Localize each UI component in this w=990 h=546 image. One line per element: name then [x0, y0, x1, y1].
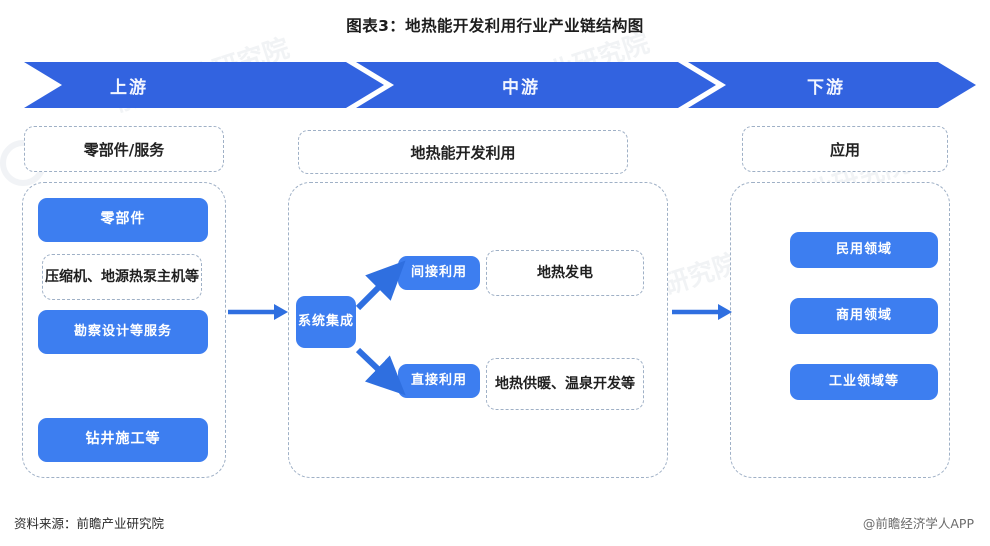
banner-label-downstream: 下游 [807, 73, 845, 98]
page-title: 图表3：地热能开发利用行业产业链结构图 [0, 14, 990, 36]
downstream-item-residential: 民用领域 [790, 232, 938, 268]
app-credit: @前瞻经济学人APP [863, 513, 974, 532]
banner-segment-upstream: 上游 [24, 62, 384, 108]
value-chain-banner: 上游 中游 下游 [24, 62, 976, 108]
branch-arrows [288, 240, 418, 420]
banner-segment-downstream: 下游 [688, 62, 976, 108]
connector-arrow-upstream-to-midstream [228, 300, 290, 324]
upstream-item-compressor-heatpump: 压缩机、地源热泵主机等 [42, 254, 202, 300]
source-note: 资料来源：前瞻产业研究院 [14, 513, 164, 532]
banner-label-upstream: 上游 [110, 73, 148, 98]
chart-canvas: 前瞻产业研究院 前瞻产业研究院 前瞻产业研究院 前瞻产业研究院 前瞻产业研究院 … [0, 0, 990, 546]
upstream-item-components: 零部件 [38, 198, 208, 242]
downstream-item-commercial: 商用领域 [790, 298, 938, 334]
column-header-midstream: 地热能开发利用 [298, 130, 628, 174]
banner-segment-midstream: 中游 [356, 62, 716, 108]
upstream-item-survey-design-service: 勘察设计等服务 [38, 310, 208, 354]
banner-label-midstream: 中游 [502, 73, 540, 98]
column-header-downstream: 应用 [742, 126, 948, 172]
midstream-target-heating-hotspring: 地热供暖、温泉开发等 [486, 358, 644, 410]
downstream-item-industrial: 工业领域等 [790, 364, 938, 400]
connector-arrow-midstream-to-downstream [672, 300, 734, 324]
column-header-upstream: 零部件/服务 [24, 126, 224, 172]
midstream-target-power-generation: 地热发电 [486, 250, 644, 296]
upstream-item-drilling-construction: 钻井施工等 [38, 418, 208, 462]
